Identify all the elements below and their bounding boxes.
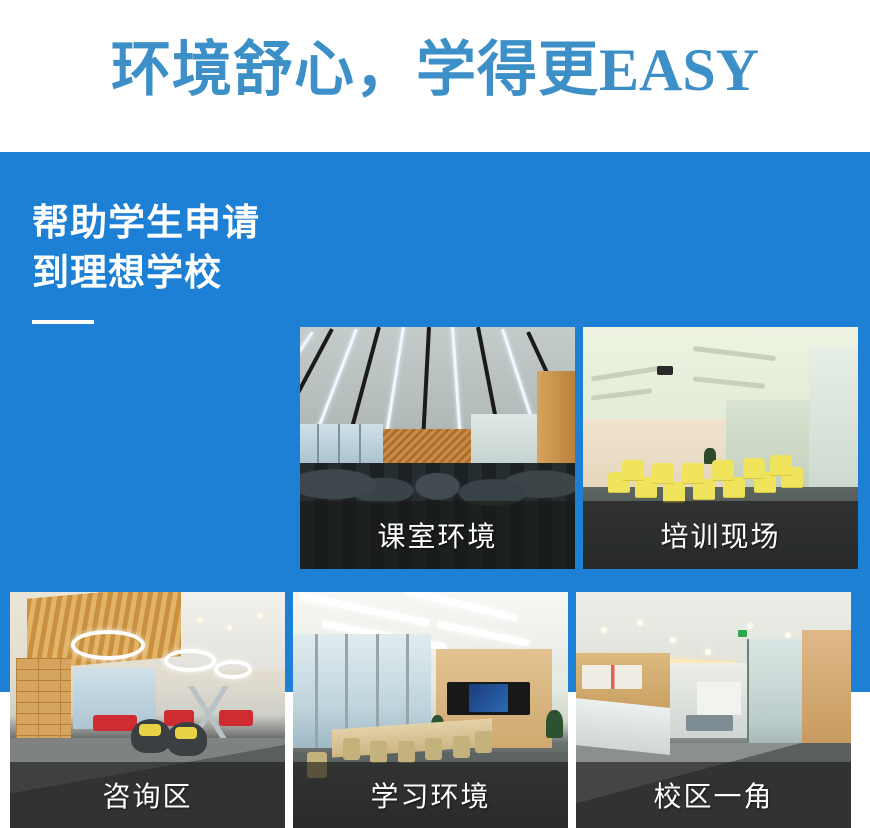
card-caption: 课室环境: [377, 515, 497, 555]
gallery-card-campus[interactable]: 校区一角: [576, 592, 851, 828]
campus-photo: 校区一角: [576, 592, 851, 828]
card-caption: 校区一角: [653, 775, 773, 815]
downlight: [747, 623, 753, 629]
lead-line-2: 到理想学校: [32, 248, 282, 298]
gallery-card-study[interactable]: 学习环境: [293, 592, 568, 828]
bookshelf: [16, 658, 71, 748]
caption-band: 校区一角: [576, 762, 851, 828]
gallery-panel: 帮助学生申请 到理想学校 课室: [0, 152, 870, 692]
lead-line-1: 帮助学生申请: [32, 198, 282, 248]
yellow-chair: [770, 455, 792, 475]
lead-text-block: 帮助学生申请 到理想学校: [32, 198, 282, 324]
wooden-door: [802, 630, 852, 748]
ceiling-projector: [657, 366, 673, 375]
yellow-chair: [622, 460, 644, 480]
gallery-card-classroom[interactable]: 课室环境: [300, 327, 575, 569]
exit-sign-icon: [738, 630, 747, 637]
yellow-chair: [723, 477, 745, 497]
waiting-sofa: [686, 715, 733, 732]
card-caption: 学习环境: [370, 775, 490, 815]
yellow-chair: [743, 458, 765, 478]
reception-desk: [576, 698, 670, 755]
training-photo: 培训现场: [583, 327, 858, 569]
wall-artwork: [697, 682, 741, 715]
yellow-chair: [652, 463, 674, 483]
downlight: [197, 618, 202, 623]
ring-pendant-light: [71, 630, 145, 660]
pod-cushion: [139, 724, 161, 736]
page-title-english: EASY: [599, 37, 759, 103]
lounge-photo: 咨询区: [10, 592, 285, 828]
pod-cushion: [175, 727, 197, 739]
caption-band: 咨询区: [10, 762, 285, 828]
glass-door: [747, 639, 806, 745]
downlight: [258, 613, 263, 618]
office-chair: [475, 731, 492, 753]
classroom-photo: 课室环境: [300, 327, 575, 569]
office-chair: [398, 741, 415, 763]
downlight: [705, 649, 711, 655]
yellow-chair: [663, 482, 685, 502]
ring-pendant-light: [214, 660, 252, 679]
card-caption: 咨询区: [102, 775, 192, 815]
red-sofa: [219, 710, 253, 726]
yellow-chair: [712, 460, 734, 480]
page-title: 环境舒心，学得更EASY: [0, 34, 870, 106]
window-glazing: [809, 346, 859, 491]
office-chair: [453, 736, 470, 758]
potted-plant: [546, 710, 563, 738]
office-chair: [425, 738, 442, 760]
downlight: [670, 637, 676, 643]
study-photo: 学习环境: [293, 592, 568, 828]
active-display-content: [469, 684, 508, 712]
page-header: 环境舒心，学得更EASY: [0, 0, 870, 152]
red-sofa: [93, 715, 137, 731]
caption-band: 课室环境: [300, 501, 575, 569]
card-caption: 培训现场: [660, 515, 780, 555]
office-chair: [343, 738, 360, 760]
gallery-card-training[interactable]: 培训现场: [583, 327, 858, 569]
caption-band: 学习环境: [293, 762, 568, 828]
yellow-chair: [682, 463, 704, 483]
office-chair: [370, 741, 387, 763]
ring-pendant-light: [164, 649, 216, 672]
caption-band: 培训现场: [583, 501, 858, 569]
page-title-chinese: 环境舒心，学得更: [111, 35, 599, 105]
downlight: [637, 620, 643, 626]
wall-signage: [582, 665, 643, 689]
lead-divider: [32, 320, 94, 324]
gallery-card-lounge[interactable]: 咨询区: [10, 592, 285, 828]
